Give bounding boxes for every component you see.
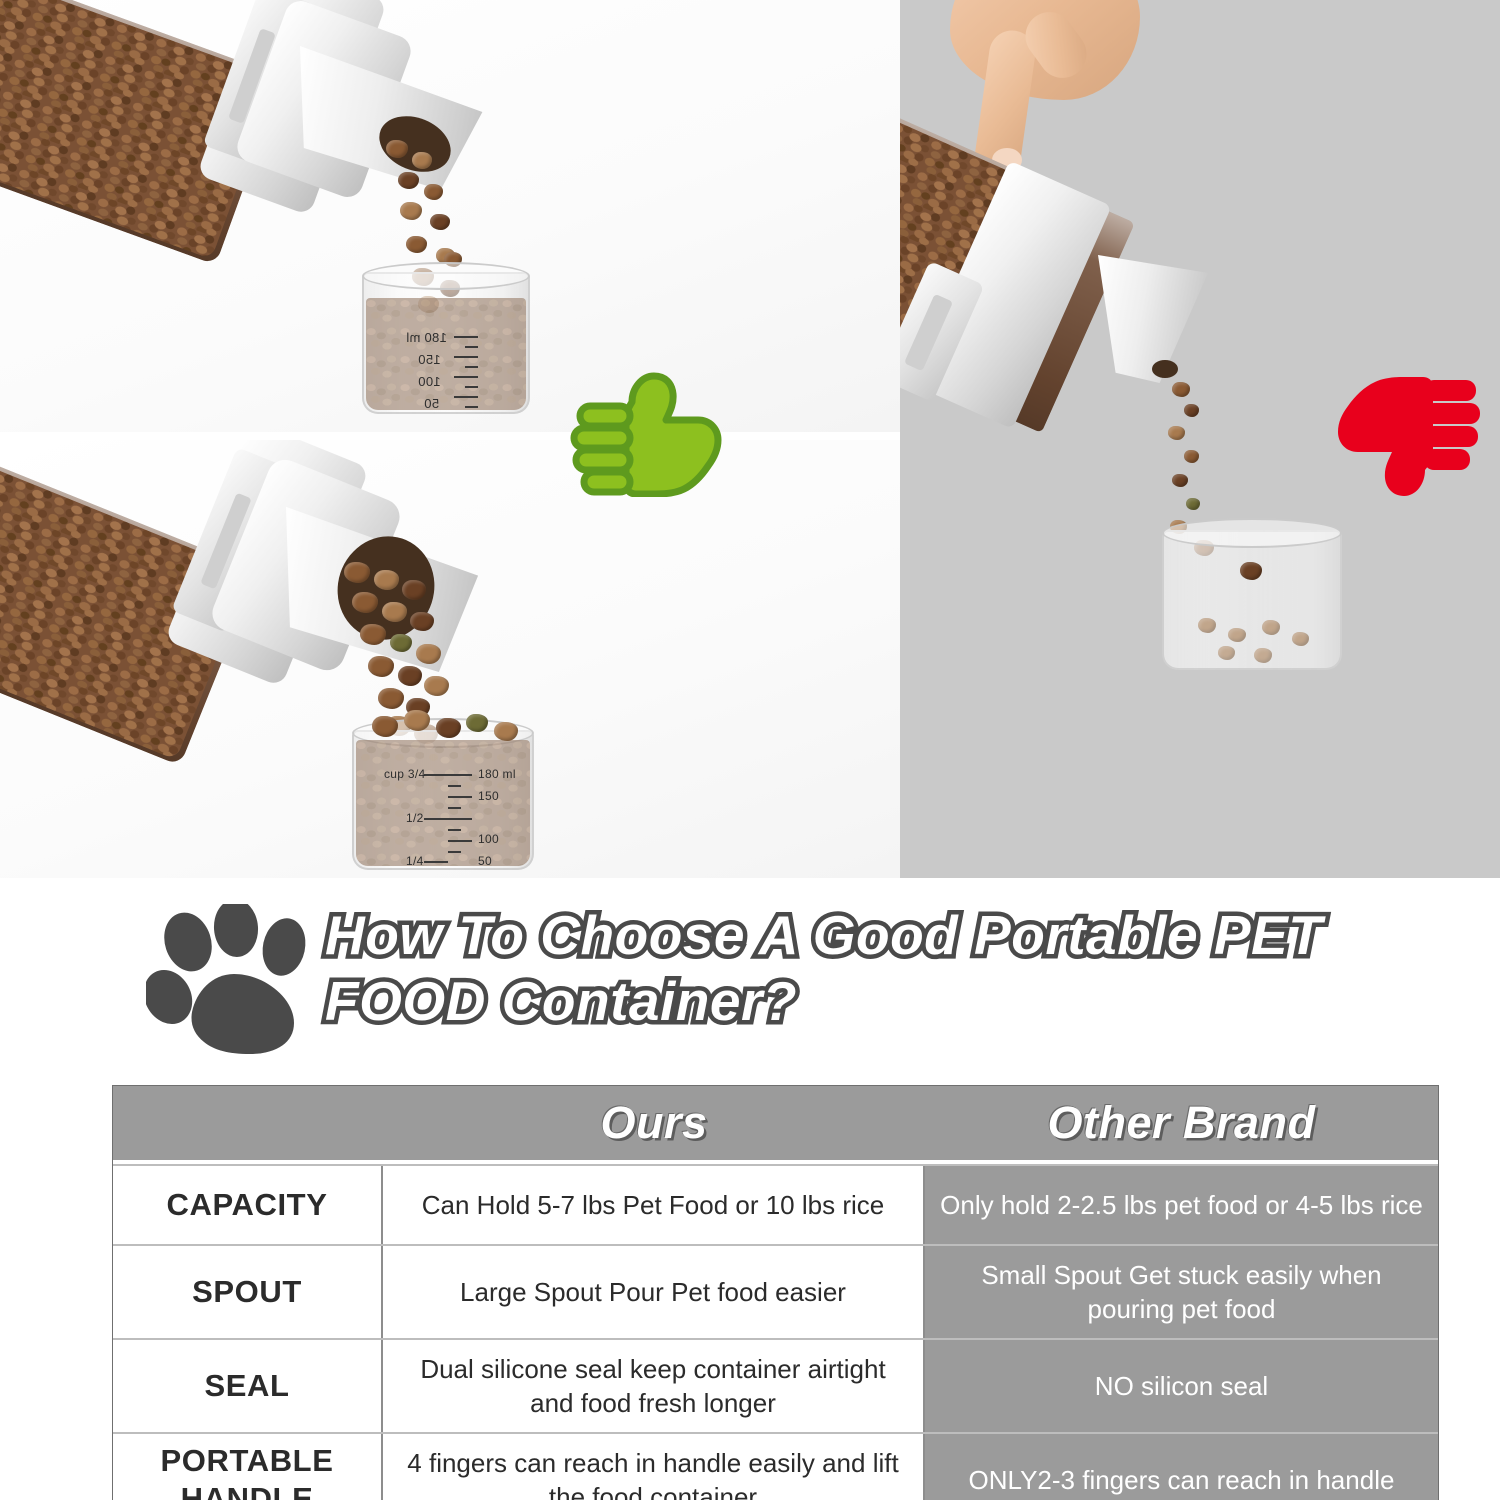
kibble-piece <box>1168 426 1185 440</box>
cup-label-150-top: 150 <box>418 352 441 367</box>
ours-value: Can Hold 5-7 lbs Pet Food or 10 lbs rice <box>422 1188 884 1222</box>
table-row: CAPACITY Can Hold 5-7 lbs Pet Food or 10… <box>113 1164 1438 1244</box>
kibble-piece <box>412 152 432 169</box>
ours-value: Dual silicone seal keep container airtig… <box>397 1352 909 1420</box>
kibble-piece <box>1240 562 1262 580</box>
other-value: NO silicon seal <box>1095 1369 1268 1403</box>
kibble-piece <box>1186 498 1200 510</box>
kibble-piece <box>430 214 450 230</box>
competitor-cup-rim <box>1162 518 1342 548</box>
feature-label: CAPACITY <box>167 1186 328 1224</box>
comparison-table: Ours Other Brand CAPACITY Can Hold 5-7 l… <box>112 1085 1439 1500</box>
other-value: ONLY2-3 fingers can reach in handle <box>969 1463 1395 1497</box>
kibble-piece <box>386 140 408 158</box>
cup-label-half: 1/2 <box>406 811 424 825</box>
kibble-piece <box>378 688 404 709</box>
competitor-spout-mouth <box>1152 360 1178 378</box>
kibble-piece <box>436 718 461 738</box>
kibble-piece <box>352 592 378 613</box>
kibble-piece <box>1228 628 1246 642</box>
kibble-piece <box>410 612 434 631</box>
table-row: SEAL Dual silicone seal keep container a… <box>113 1338 1438 1432</box>
kibble-piece <box>402 580 426 600</box>
kibble-piece <box>1218 646 1235 660</box>
kibble-piece <box>406 236 427 253</box>
kibble-piece <box>1172 382 1190 397</box>
kibble-piece <box>368 656 394 677</box>
ours-value: Large Spout Pour Pet food easier <box>460 1275 846 1309</box>
cup-scale-lead <box>424 861 448 863</box>
other-cell-spout: Small Spout Get stuck easily when pourin… <box>925 1246 1438 1338</box>
thumbs-up-icon <box>570 372 725 497</box>
kibble-piece <box>1254 648 1272 663</box>
kibble-piece <box>424 184 443 200</box>
other-cell-portable-handle: ONLY2-3 fingers can reach in handle <box>925 1434 1438 1500</box>
title-section: How To Choose A Good Portable PET FOOD C… <box>0 882 1500 1072</box>
table-header-row: Ours Other Brand <box>113 1086 1438 1164</box>
kibble-piece <box>398 666 422 686</box>
cup-scale-ticks-bottom <box>448 774 474 862</box>
kibble-piece <box>1172 474 1188 487</box>
ours-cell-spout: Large Spout Pour Pet food easier <box>383 1246 925 1338</box>
feature-cell-seal: SEAL <box>113 1340 383 1432</box>
other-cell-seal: NO silicon seal <box>925 1340 1438 1432</box>
kibble-piece <box>372 716 398 737</box>
cup-scale-lead <box>424 818 448 820</box>
cup-label-quarter: 1/4 <box>406 854 424 868</box>
kibble-piece <box>404 710 430 731</box>
ours-cell-capacity: Can Hold 5-7 lbs Pet Food or 10 lbs rice <box>383 1166 925 1244</box>
cup-label-50-top: 50 <box>424 396 439 411</box>
kibble-piece <box>400 202 422 220</box>
cup-label-150-bottom: 150 <box>478 789 499 803</box>
page-title-line-1: How To Choose A Good Portable PET <box>325 902 1430 968</box>
other-value: Small Spout Get stuck easily when pourin… <box>939 1258 1424 1326</box>
kibble-piece <box>1184 450 1199 463</box>
kibble-piece <box>466 714 488 732</box>
feature-cell-capacity: CAPACITY <box>113 1166 383 1244</box>
cup-label-180ml-top: 180 ml <box>406 330 447 345</box>
panel-divider <box>0 432 900 440</box>
table-row: SPOUT Large Spout Pour Pet food easier S… <box>113 1244 1438 1338</box>
kibble-piece <box>424 676 449 696</box>
table-row: PORTABLE HANDLE 4 fingers can reach in h… <box>113 1432 1438 1500</box>
table-header-ours-label: Ours <box>600 1097 707 1149</box>
feature-label: PORTABLE HANDLE <box>119 1442 375 1500</box>
table-header-feature-blank <box>113 1086 383 1160</box>
feature-cell-spout: SPOUT <box>113 1246 383 1338</box>
ours-cup-rim-top <box>362 262 530 290</box>
kibble-piece <box>1184 404 1199 417</box>
ours-value: 4 fingers can reach in handle easily and… <box>397 1446 909 1500</box>
cup-scale-lead <box>424 774 448 776</box>
feature-label: SEAL <box>204 1367 289 1405</box>
ours-cell-seal: Dual silicone seal keep container airtig… <box>383 1340 925 1432</box>
infographic-page: 180 ml 150 100 50 <box>0 0 1500 1500</box>
other-value: Only hold 2-2.5 lbs pet food or 4-5 lbs … <box>940 1188 1423 1222</box>
feature-label: SPOUT <box>192 1273 302 1311</box>
paw-print-icon <box>146 904 321 1054</box>
kibble-piece <box>416 644 441 664</box>
table-header-other-label: Other Brand <box>1047 1097 1315 1149</box>
competitor-measuring-cup <box>1162 530 1342 670</box>
ours-cup-food-bottom <box>356 740 530 866</box>
other-cell-capacity: Only hold 2-2.5 lbs pet food or 4-5 lbs … <box>925 1166 1438 1244</box>
feature-cell-portable-handle: PORTABLE HANDLE <box>113 1434 383 1500</box>
cup-label-cup34: cup 3/4 <box>384 767 425 781</box>
cup-label-100-bottom: 100 <box>478 832 499 846</box>
kibble-piece <box>344 562 370 583</box>
kibble-piece <box>382 602 407 622</box>
kibble-piece <box>1198 618 1216 633</box>
kibble-piece <box>398 172 419 189</box>
cup-label-100-top: 100 <box>418 374 441 389</box>
cup-label-50-bottom: 50 <box>478 854 492 868</box>
table-header-other-brand: Other Brand <box>925 1086 1438 1160</box>
kibble-piece <box>1292 632 1309 646</box>
kibble-piece <box>390 634 412 652</box>
product-photo-band: 180 ml 150 100 50 <box>0 0 1500 878</box>
ours-photo-panel-bottom: cup 3/4 1/2 1/4 180 ml 150 100 50 <box>0 440 900 878</box>
ours-photo-panel-top: 180 ml 150 100 50 <box>0 0 900 432</box>
page-title: How To Choose A Good Portable PET FOOD C… <box>325 902 1430 1034</box>
thumbs-down-icon <box>1328 374 1483 499</box>
ours-cell-portable-handle: 4 fingers can reach in handle easily and… <box>383 1434 925 1500</box>
cup-scale-ticks-top <box>452 336 478 412</box>
ours-cup-food-top <box>366 298 526 410</box>
table-header-ours: Ours <box>383 1086 925 1160</box>
kibble-piece <box>494 722 518 741</box>
cup-label-180ml-bottom: 180 ml <box>478 767 516 781</box>
kibble-piece <box>1262 620 1280 635</box>
kibble-piece <box>374 570 399 590</box>
page-title-line-2: FOOD Container? <box>325 968 1430 1034</box>
kibble-piece <box>360 624 386 645</box>
